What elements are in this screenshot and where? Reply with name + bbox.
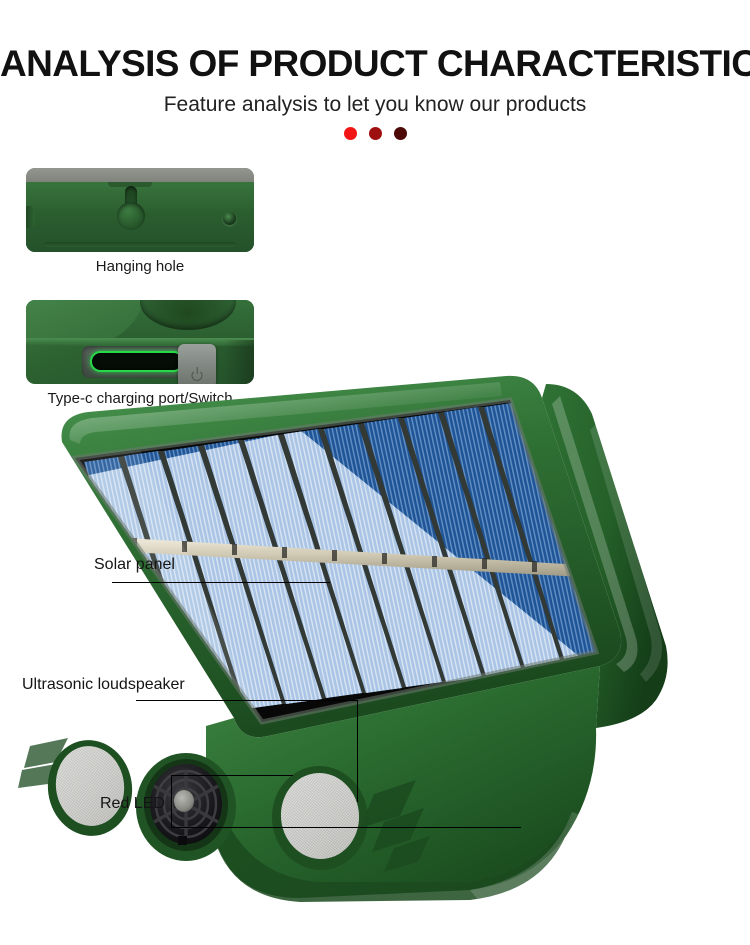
- usb-type-c-port-icon: [90, 351, 184, 372]
- detail-caption-type-c: Type-c charging port/Switch: [11, 390, 269, 407]
- power-symbol-icon: [192, 370, 203, 381]
- housing-right-shadow: [224, 340, 254, 384]
- housing-lower-bulge: [214, 790, 574, 902]
- callout-leader-solar-panel: [112, 582, 330, 583]
- detail-card-hanging-hole: Hanging hole: [26, 168, 269, 275]
- product-illustration: [0, 370, 750, 945]
- detail-caption-hanging-hole: Hanging hole: [11, 258, 269, 275]
- callout-leader-red-led-vertical: [171, 775, 172, 828]
- speaker-vent-notch: [178, 836, 187, 845]
- keyhole-mount-slot: [114, 186, 148, 234]
- callout-label-ultrasonic-loudspeaker: Ultrasonic loudspeaker: [22, 676, 185, 694]
- cooling-fins: [360, 780, 430, 872]
- led-left-lens: [51, 742, 129, 831]
- housing-left-notch: [26, 206, 35, 228]
- callout-label-red-led: Red LED: [100, 795, 165, 813]
- dot-mid-red: [369, 127, 382, 140]
- housing-gloss-corner: [590, 422, 662, 682]
- page-subtitle: Feature analysis to let you know our pro…: [0, 93, 750, 116]
- housing-ledge: [26, 338, 254, 346]
- device-housing: [62, 376, 668, 902]
- cooling-fins-left: [18, 738, 68, 788]
- type-c-photo: [26, 300, 254, 384]
- page-header: ANALYSIS OF PRODUCT CHARACTERISTICS Feat…: [0, 0, 750, 140]
- dot-bright-red: [344, 127, 357, 140]
- led-right-lens: [277, 769, 364, 863]
- led-left-lens-gloss: [51, 742, 129, 831]
- callout-leader-ultrasonic-horizontal: [136, 700, 358, 701]
- callout-leader-red-led-lower: [171, 827, 521, 828]
- dot-dark-red: [394, 127, 407, 140]
- housing-right-wall: [542, 384, 668, 728]
- callout-label-solar-panel: Solar panel: [94, 556, 175, 574]
- speaker-center-dome: [174, 790, 194, 812]
- decorative-dots: [0, 127, 750, 140]
- busbar-solder-joints: [132, 538, 537, 572]
- housing-bottom-groove: [44, 242, 236, 247]
- keyhole-slot-bore: [117, 202, 145, 230]
- front-components: [18, 735, 430, 875]
- led-left-bezel: [42, 735, 139, 842]
- hanging-hole-photo: [26, 168, 254, 252]
- housing-gloss-front: [470, 812, 584, 900]
- page-title: ANALYSIS OF PRODUCT CHARACTERISTICS: [0, 44, 750, 84]
- solar-cell-gaps: [118, 401, 606, 715]
- led-right-lens-gloss: [277, 769, 364, 863]
- power-switch-button[interactable]: [178, 344, 216, 384]
- callout-leader-ultrasonic-vertical: [357, 700, 358, 802]
- callout-leader-red-led-upper: [171, 775, 293, 776]
- detail-card-type-c: Type-c charging port/Switch: [26, 300, 269, 407]
- housing-gloss-right: [552, 396, 638, 672]
- screw-hole-icon: [223, 212, 236, 225]
- led-left: [42, 735, 139, 842]
- product-render-svg: [0, 370, 750, 945]
